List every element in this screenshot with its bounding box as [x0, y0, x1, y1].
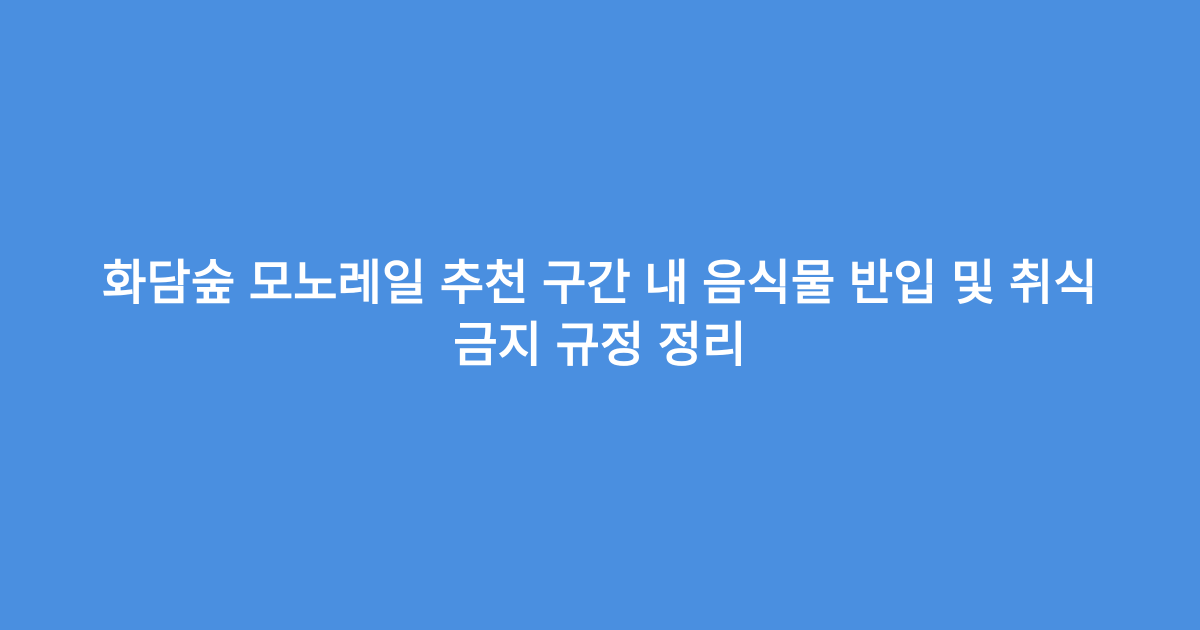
page-title-line-1: 화담숲 모노레일 추천 구간 내 음식물 반입 및 취식: [45, 253, 1155, 315]
page-title-line-2: 금지 규정 정리: [45, 315, 1155, 377]
page-title: 화담숲 모노레일 추천 구간 내 음식물 반입 및 취식 금지 규정 정리: [45, 253, 1155, 377]
og-card-canvas: 화담숲 모노레일 추천 구간 내 음식물 반입 및 취식 금지 규정 정리: [0, 0, 1200, 630]
